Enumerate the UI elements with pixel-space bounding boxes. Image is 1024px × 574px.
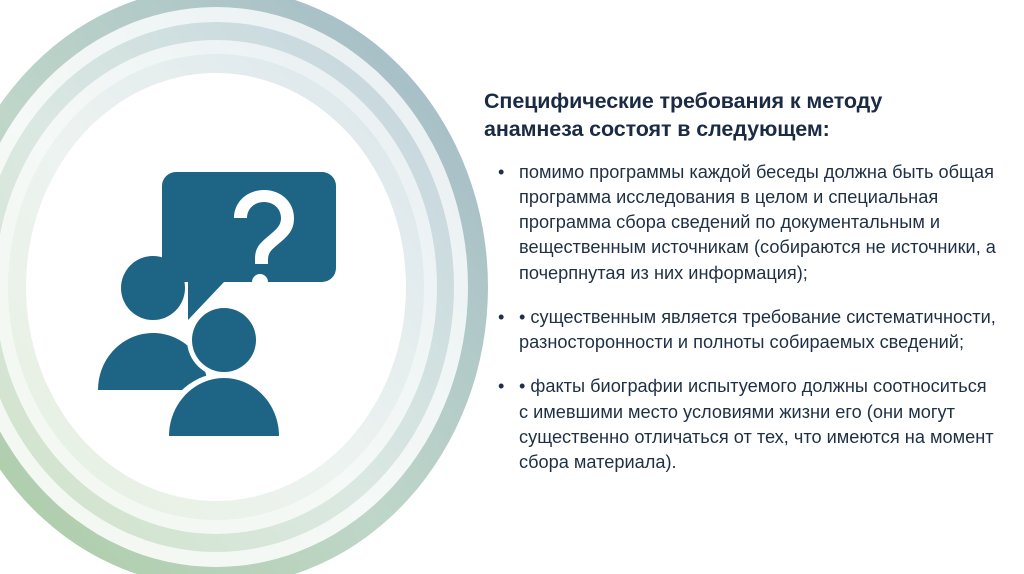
bullet-text-1: помимо программы каждой беседы должна бы… <box>519 162 996 283</box>
person-back-head <box>121 256 185 320</box>
title-line-1: Специфические требования к методу <box>484 88 1000 116</box>
bullet-marker-icon: • <box>498 305 504 330</box>
bullet-item-3: • • факты биографии испытуемого должны с… <box>484 374 1000 475</box>
bullet-list: • помимо программы каждой беседы должна … <box>484 160 1000 475</box>
question-mark-dot <box>252 274 268 290</box>
two-people-question-speech-bubble-icon <box>96 168 336 436</box>
title-line-2: анамнеза состоят в следующем: <box>484 116 1000 144</box>
text-content-column: Специфические требования к методу анамне… <box>484 88 1000 475</box>
slide-canvas: Специфические требования к методу анамне… <box>0 0 1024 574</box>
bullet-text-2: • существенным является требование систе… <box>519 307 996 352</box>
bullet-item-2: • • существенным является требование сис… <box>484 305 1000 355</box>
bullet-marker-icon: • <box>498 160 504 185</box>
bullet-item-1: • помимо программы каждой беседы должна … <box>484 160 1000 286</box>
person-front-head <box>192 308 256 372</box>
slide-title: Специфические требования к методу анамне… <box>484 88 1000 144</box>
bullet-marker-icon: • <box>498 374 504 399</box>
bullet-text-3: • факты биографии испытуемого должны соо… <box>519 376 994 472</box>
